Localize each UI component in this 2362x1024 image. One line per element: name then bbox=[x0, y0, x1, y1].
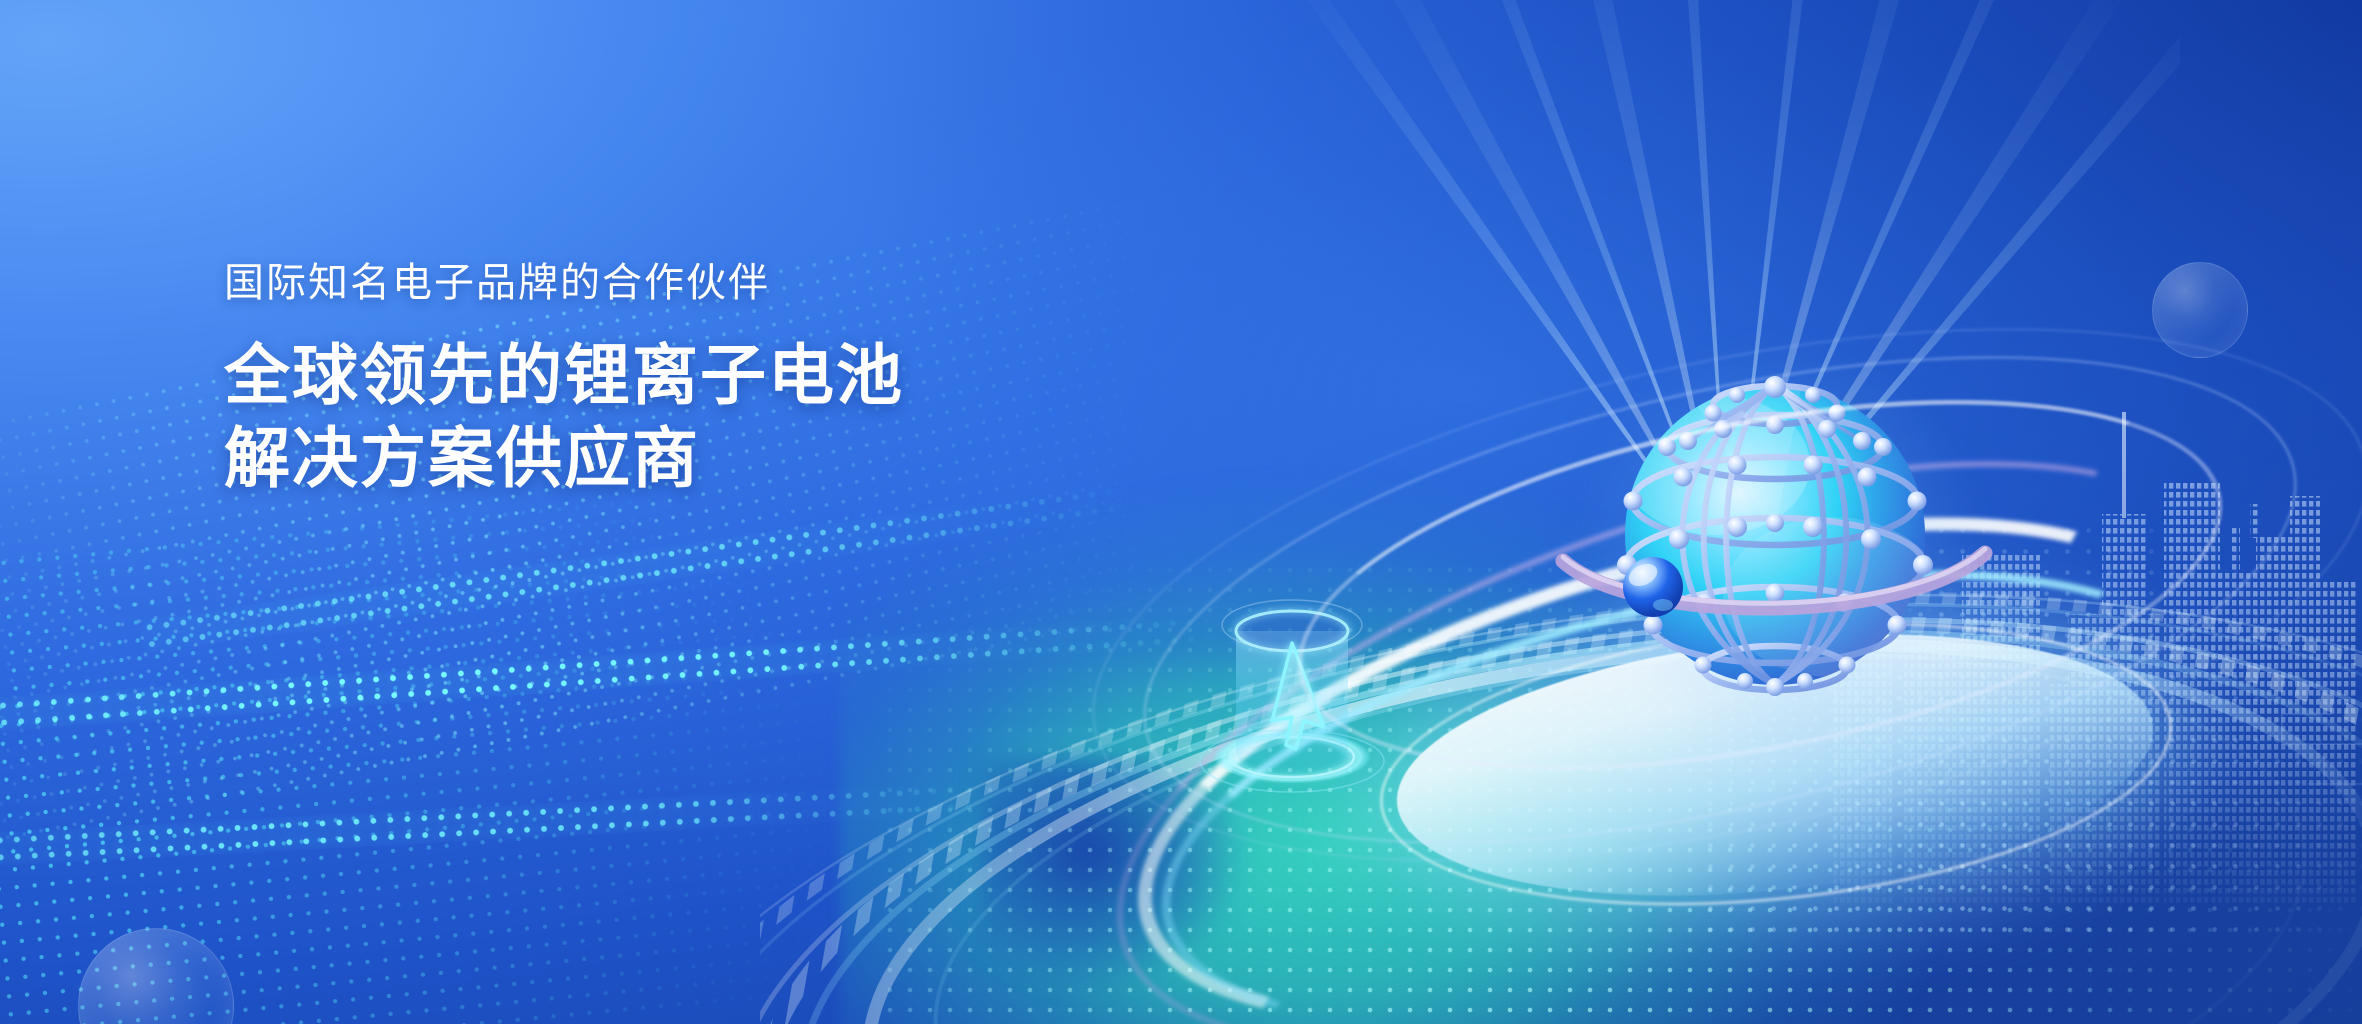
banner-headline: 全球领先的锂离子电池 解决方案供应商 bbox=[224, 334, 904, 500]
hero-banner: 国际知名电子品牌的合作伙伴 全球领先的锂离子电池 解决方案供应商 bbox=[0, 0, 2362, 1024]
wireframe-globe-graphic bbox=[1565, 325, 1985, 745]
cursor-podium-graphic bbox=[1192, 585, 1392, 795]
banner-headline-line-1: 全球领先的锂离子电池 bbox=[224, 334, 904, 417]
banner-subtitle: 国际知名电子品牌的合作伙伴 bbox=[224, 258, 904, 308]
banner-headline-line-2: 解决方案供应商 bbox=[224, 417, 904, 500]
banner-copy: 国际知名电子品牌的合作伙伴 全球领先的锂离子电池 解决方案供应商 bbox=[224, 258, 904, 500]
